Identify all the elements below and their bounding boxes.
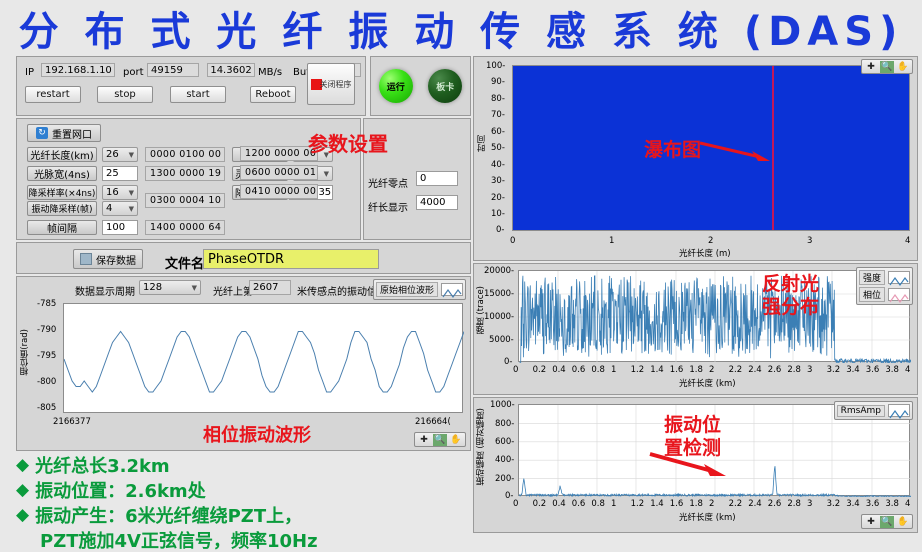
intensity-legend-swatch-1 — [888, 271, 910, 284]
waveform-ytick: -785 — [37, 299, 56, 309]
intenity-xticks-label: 1 — [611, 365, 616, 375]
waterfall-ytick: 30- — [491, 176, 505, 186]
rm-xticks-label: 1 — [611, 499, 616, 509]
intenity-xticks-label: 3.8 — [885, 365, 899, 375]
waterfall-marker-line — [772, 66, 774, 230]
display-period-value: 128 — [143, 282, 162, 293]
file-save-panel: 保存数据 文件名 PhaseOTDR — [16, 242, 471, 274]
zoom-icon[interactable]: 🔍 — [880, 516, 894, 528]
intensity-ytick: 10000- — [484, 312, 514, 322]
start-button[interactable]: start — [170, 86, 226, 103]
phase-waveform-graph: 数据显示周期 128 ▼ 光纤上第 2607 米传感点的振动信号 原始相位波形 … — [16, 276, 471, 451]
rm-xticks-label: 0.2 — [533, 499, 547, 509]
crosshair-icon[interactable]: ✚ — [864, 61, 878, 73]
rms-ytick: 1000- — [490, 400, 515, 410]
rm-xticks-label: 3.4 — [846, 499, 860, 509]
port-label: port — [123, 67, 144, 78]
fiber-length-hex: 0000 0100 00 — [145, 147, 225, 162]
rms-legend-swatch — [888, 404, 910, 417]
rm-xticks-label: 3.6 — [866, 499, 880, 509]
intenity-xticks-label: 0 — [513, 365, 518, 375]
rms-legend[interactable]: RmsAmp — [834, 401, 913, 420]
chevron-down-icon: ▼ — [129, 151, 134, 159]
waterfall-ytick: 90- — [491, 77, 505, 87]
waveform-plot-area[interactable] — [63, 303, 463, 413]
intensity-svg — [519, 271, 911, 363]
save-data-button[interactable]: 保存数据 — [73, 249, 143, 269]
file-name-label: 文件名 — [165, 253, 204, 272]
intenity-xticks-label: 4 — [905, 365, 910, 375]
chevron-down-icon: ▼ — [324, 170, 329, 178]
rms-legend-label: RmsAmp — [837, 405, 885, 417]
fiber-zero-panel: 光纤零点 0 纤长显示 4000 — [363, 118, 471, 240]
waterfall-ytick: 70- — [491, 110, 505, 120]
rm-xticks-label: 2 — [709, 499, 714, 509]
frame-interval-hex: 1400 0000 64 — [145, 220, 225, 235]
intenity-xticks-label: 3.2 — [827, 365, 841, 375]
fiber-display-length-label: 纤长显示 — [368, 199, 408, 214]
rm-xticks-label: 1.2 — [631, 499, 645, 509]
intensity-x-title: 光纤长度 (km) — [679, 377, 736, 389]
diamond-icon: ◆ — [16, 506, 29, 525]
intenity-xticks-label: 2 — [709, 365, 714, 375]
intenity-xticks-label: 0.4 — [552, 365, 566, 375]
rm-xticks-label: 3.2 — [827, 499, 841, 509]
zoom-icon[interactable]: 🔍 — [880, 61, 894, 73]
intenity-xticks-label: 0.8 — [591, 365, 605, 375]
pan-hand-icon[interactable]: ✋ — [896, 516, 910, 528]
led-board: 板卡 — [428, 69, 462, 103]
fiber-length-label: 光纤长度(km) — [27, 147, 97, 162]
waterfall-ytick: 0- — [496, 225, 504, 235]
intensity-ytick: 15000- — [484, 289, 514, 299]
pan-hand-icon[interactable]: ✋ — [449, 434, 463, 446]
rms-ytick: 600- — [495, 437, 514, 447]
chevron-down-icon: ▼ — [129, 205, 134, 213]
rm-xticks-label: 3.8 — [885, 499, 899, 509]
intensity-plot-area[interactable] — [518, 270, 910, 362]
vibration-downsample-label: 振动降采样(帧) — [27, 201, 97, 216]
intenity-xticks-label: 1.4 — [650, 365, 664, 375]
waterfall-ytick: 40- — [491, 160, 505, 170]
bullet-text-continued: PZT施加4V正弦信号，频率10Hz — [40, 531, 479, 552]
intenity-xticks-label: 0.2 — [533, 365, 547, 375]
noise-band-hexcode: 1200 0000 00 — [240, 146, 318, 161]
fiber-zero-input[interactable]: 0 — [416, 171, 458, 186]
pulse-width-label: 光脉宽(4ns) — [27, 166, 97, 181]
intensity-ytick: 5000- — [489, 335, 514, 345]
rm-xticks-label: 0.8 — [591, 499, 605, 509]
bullet-text: 振动位置：2.6km处 — [35, 481, 206, 502]
reset-port-label: 重置网口 — [52, 126, 92, 141]
rm-xticks-label: 0 — [513, 499, 518, 509]
vibration-downsample-hex: 0300 0004 10 — [145, 193, 225, 208]
vibration-downsample-value: 4 — [106, 203, 112, 214]
fiber-zero-label: 光纤零点 — [368, 175, 408, 190]
page-title: 分 布 式 光 纤 振 动 传 感 系 统 (DAS) — [19, 0, 904, 57]
diamond-icon: ◆ — [16, 481, 29, 500]
chevron-down-icon: ▼ — [129, 189, 134, 197]
sense-point-label: 光纤上第 — [213, 283, 253, 298]
intenity-xticks-label: 3.4 — [846, 365, 860, 375]
waveform-svg — [64, 304, 464, 414]
rms-y-title: 振动幅度 (相对幅度) — [475, 408, 487, 485]
rm-xticks-label: 3 — [807, 499, 812, 509]
port-field[interactable]: 49159 — [147, 63, 199, 77]
intensity-legend-label-2: 相位 — [859, 287, 885, 302]
intenity-xticks-label: 3.6 — [866, 365, 880, 375]
ip-label: IP — [25, 67, 34, 78]
bullet-text: 光纤总长3.2km — [35, 456, 170, 477]
waveform-xtick-end: 216664( — [415, 417, 451, 427]
waveform-ytick: -790 — [37, 325, 56, 335]
bullet-item: ◆ 振动位置：2.6km处 — [16, 481, 479, 502]
frame-interval-label: 帧间隔 — [27, 220, 97, 235]
chevron-down-icon: ▼ — [324, 151, 329, 159]
reset-port-button[interactable]: ↻ 重置网口 — [27, 124, 101, 142]
page-title-bar: 分 布 式 光 纤 振 动 传 感 系 统 (DAS) — [0, 0, 922, 56]
waterfall-ytick: 100- — [486, 61, 505, 71]
waveform-legend-swatch — [441, 283, 463, 296]
reflected-intensity-graph: 强度 (trace) 20000- 15000- 1 — [473, 263, 918, 395]
ip-field[interactable]: 192.168.1.10 — [41, 63, 115, 77]
frame-interval-input[interactable]: 100 — [102, 220, 138, 235]
rms-ytick: 800- — [495, 419, 514, 429]
waveform-xtick-start: 2166377 — [53, 417, 91, 427]
rm-xticks-label: 0.6 — [572, 499, 586, 509]
waveform-graph-toolbar[interactable]: ✚ 🔍 ✋ — [414, 432, 466, 447]
bullet-item: ◆ 光纤总长3.2km — [16, 456, 479, 477]
sensitivity-hexcode: 0600 0000 01 — [240, 165, 318, 180]
waterfall-xtick: 4 — [905, 236, 910, 246]
intensity-legend-swatch-2 — [888, 288, 910, 301]
waterfall-ytick: 20- — [491, 193, 505, 203]
rms-ytick: 200- — [495, 474, 514, 484]
pulse-width-input[interactable]: 25 — [102, 166, 138, 181]
intensity-legend[interactable]: 强度 相位 — [856, 267, 913, 305]
save-data-label: 保存数据 — [96, 252, 136, 267]
intenity-xticks-label: 2.6 — [768, 365, 782, 375]
rm-xticks-label: 1.8 — [689, 499, 703, 509]
waveform-legend[interactable]: 原始相位波形 — [373, 279, 466, 300]
param-row-fiber-length: 光纤长度(km) — [27, 147, 97, 162]
intensity-ytick: 0- — [504, 357, 512, 367]
waterfall-x-title: 光纤长度 (m) — [679, 247, 731, 259]
diamond-icon: ◆ — [16, 456, 29, 475]
intensity-xticks: 00.20.40.60.811.21.41.61.822.22.42.62.83… — [518, 365, 910, 377]
rm-xticks-label: 0.4 — [552, 499, 566, 509]
connection-panel: IP 192.168.1.10 port 49159 14.3602 MB/s … — [16, 56, 366, 116]
bullet-text: 振动产生：6米光纤缠绕PZT上， — [35, 506, 302, 527]
rms-graph-toolbar[interactable]: ✚ 🔍 ✋ — [861, 514, 913, 529]
rm-xticks-label: 1.4 — [650, 499, 664, 509]
crosshair-icon[interactable]: ✚ — [417, 434, 431, 446]
intenity-xticks-label: 3 — [807, 365, 812, 375]
save-icon — [80, 253, 92, 265]
close-program-button[interactable]: 关闭程序 — [307, 63, 355, 105]
waterfall-ytick: 60- — [491, 127, 505, 137]
intenity-xticks-label: 2.8 — [787, 365, 801, 375]
crosshair-icon[interactable]: ✚ — [864, 516, 878, 528]
rm-xticks-label: 2.2 — [729, 499, 743, 509]
waterfall-ytick: 10- — [491, 209, 505, 219]
fiber-display-length-input[interactable]: 4000 — [416, 195, 458, 210]
status-led-panel: 运行 板卡 — [370, 56, 471, 116]
noise-period-hexcode: 0410 0000 00 — [240, 184, 318, 199]
waveform-ytick: -800 — [37, 377, 56, 387]
annotation-phase-waveform: 相位振动波形 — [203, 421, 311, 447]
rm-xticks-label: 4 — [905, 499, 910, 509]
fiber-length-value: 26 — [106, 149, 119, 160]
rms-ytick: 400- — [495, 455, 514, 465]
waterfall-xtick: 0 — [510, 236, 515, 246]
intensity-legend-label-1: 强度 — [859, 270, 885, 285]
rm-xticks-label: 2.6 — [768, 499, 782, 509]
transfer-rate-value: 14.3602 — [207, 63, 255, 77]
intensity-ytick: 20000- — [484, 266, 514, 276]
bullet-item: ◆ 振动产生：6米光纤缠绕PZT上， — [16, 506, 479, 527]
waterfall-plot-area[interactable] — [512, 65, 910, 231]
waterfall-xtick: 3 — [807, 236, 812, 246]
waveform-y-title: 相位值(rad) — [19, 329, 31, 375]
sense-point-value[interactable]: 2607 — [249, 280, 291, 295]
waveform-ytick: -805 — [37, 403, 56, 413]
summary-bullets: ◆ 光纤总长3.2km ◆ 振动位置：2.6km处 ◆ 振动产生：6米光纤缠绕P… — [16, 456, 479, 552]
vibration-downsample-combo[interactable]: 4 ▼ — [102, 201, 138, 216]
waveform-legend-label: 原始相位波形 — [376, 282, 438, 297]
stop-button[interactable]: stop — [97, 86, 153, 103]
rm-xticks-label: 2.4 — [748, 499, 762, 509]
waterfall-graph-toolbar[interactable]: ✚ 🔍 ✋ — [861, 59, 913, 74]
zoom-icon[interactable]: 🔍 — [433, 434, 447, 446]
downsample-rate-label: 降采样率(×4ns) — [27, 185, 97, 200]
intenity-xticks-label: 1.8 — [689, 365, 703, 375]
pulse-width-hex: 1300 0000 19 — [145, 166, 225, 181]
restart-button[interactable]: restart — [25, 86, 81, 103]
rm-xticks-label: 1.6 — [670, 499, 684, 509]
pan-hand-icon[interactable]: ✋ — [896, 61, 910, 73]
file-name-input[interactable]: PhaseOTDR — [203, 249, 379, 269]
intenity-xticks-label: 2.2 — [729, 365, 743, 375]
transfer-rate-unit: MB/s — [258, 67, 282, 78]
fiber-length-combo[interactable]: 26 ▼ — [102, 147, 138, 162]
intenity-xticks-label: 1.6 — [670, 365, 684, 375]
waterfall-xtick: 2 — [708, 236, 713, 246]
chevron-down-icon: ▼ — [192, 284, 197, 292]
led-running: 运行 — [379, 69, 413, 103]
refresh-icon: ↻ — [36, 127, 48, 139]
display-period-combo[interactable]: 128 ▼ — [139, 280, 201, 295]
waterfall-ytick: 80- — [491, 94, 505, 104]
rms-x-title: 光纤长度 (km) — [679, 511, 736, 523]
display-period-label: 数据显示周期 — [75, 283, 135, 298]
waterfall-ytick: 50- — [491, 143, 505, 153]
waterfall-xtick: 1 — [609, 236, 614, 246]
intenity-xticks-label: 2.4 — [748, 365, 762, 375]
rms-amplitude-graph: 振动幅度 (相对幅度) 1000- 800- 600 — [473, 397, 918, 533]
intenity-xticks-label: 0.6 — [572, 365, 586, 375]
downsample-rate-combo[interactable]: 16 ▼ — [102, 185, 138, 200]
waterfall-y-title: 时间 — [476, 135, 488, 152]
rms-xticks: 00.20.40.60.811.21.41.61.822.22.42.62.83… — [518, 499, 910, 511]
rm-xticks-label: 2.8 — [787, 499, 801, 509]
close-program-label: 关闭程序 — [320, 79, 352, 90]
downsample-rate-value: 16 — [106, 187, 119, 198]
reboot-button[interactable]: Reboot — [250, 86, 296, 103]
intenity-xticks-label: 1.2 — [631, 365, 645, 375]
waterfall-graph: 时间 100- 90- 80- 70- 60- 50- 40- 30- 20- … — [473, 56, 918, 261]
waveform-ytick: -795 — [37, 351, 56, 361]
